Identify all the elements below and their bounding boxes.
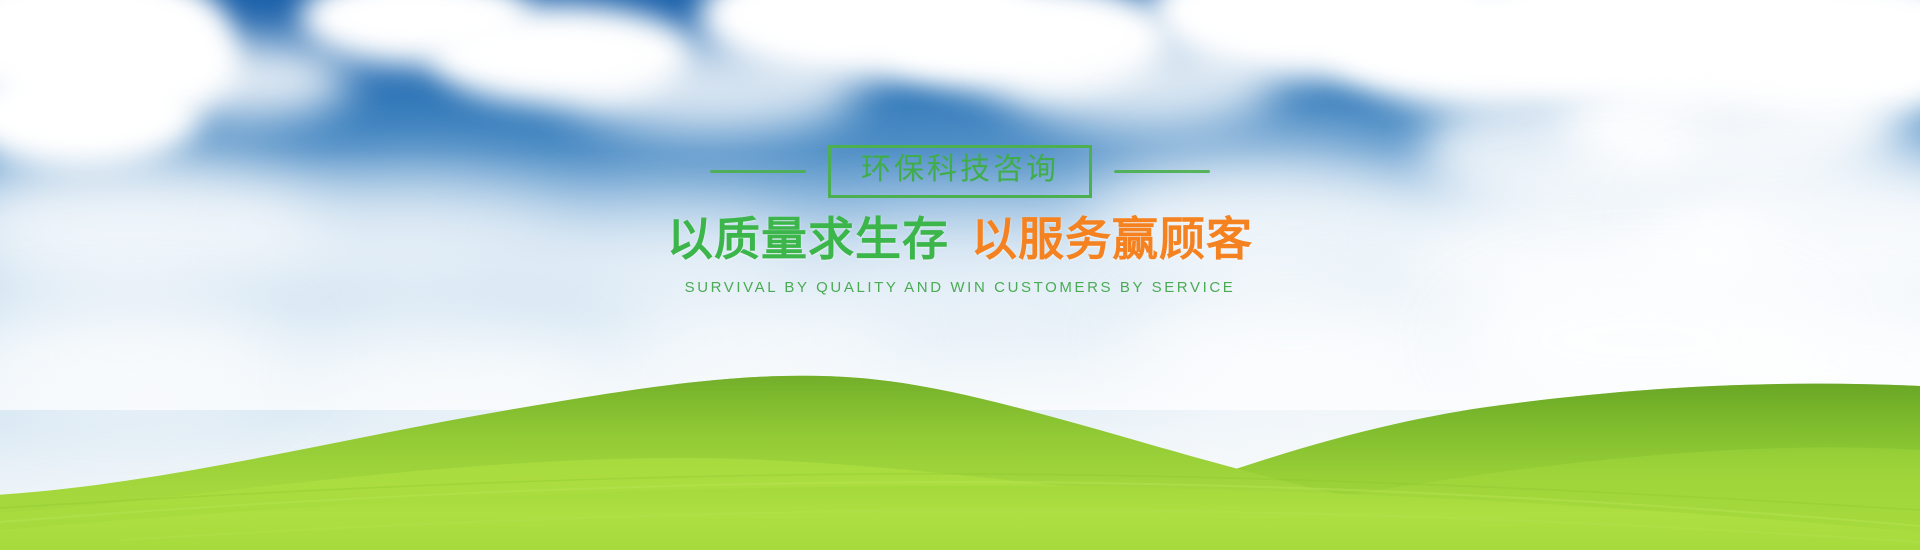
headline: 以质量求生存以服务赢顾客 (667, 214, 1253, 266)
hero-banner: 环保科技咨询 以质量求生存以服务赢顾客 SURVIVAL BY QUALITY … (0, 0, 1920, 550)
headline-green: 以质量求生存 (667, 212, 949, 266)
tagline-box: 环保科技咨询 (828, 145, 1092, 198)
tagline-row: 环保科技咨询 (710, 145, 1210, 198)
decorative-rule-right (1114, 170, 1210, 173)
cloud-shape (150, 40, 350, 120)
subtitle: SURVIVAL BY QUALITY AND WIN CUSTOMERS BY… (685, 279, 1236, 296)
headline-orange: 以服务赢顾客 (971, 212, 1253, 266)
grass-hills (0, 290, 1920, 550)
tagline-text: 环保科技咨询 (861, 152, 1059, 187)
banner-content: 环保科技咨询 以质量求生存以服务赢顾客 SURVIVAL BY QUALITY … (0, 145, 1920, 296)
decorative-rule-left (710, 170, 806, 173)
